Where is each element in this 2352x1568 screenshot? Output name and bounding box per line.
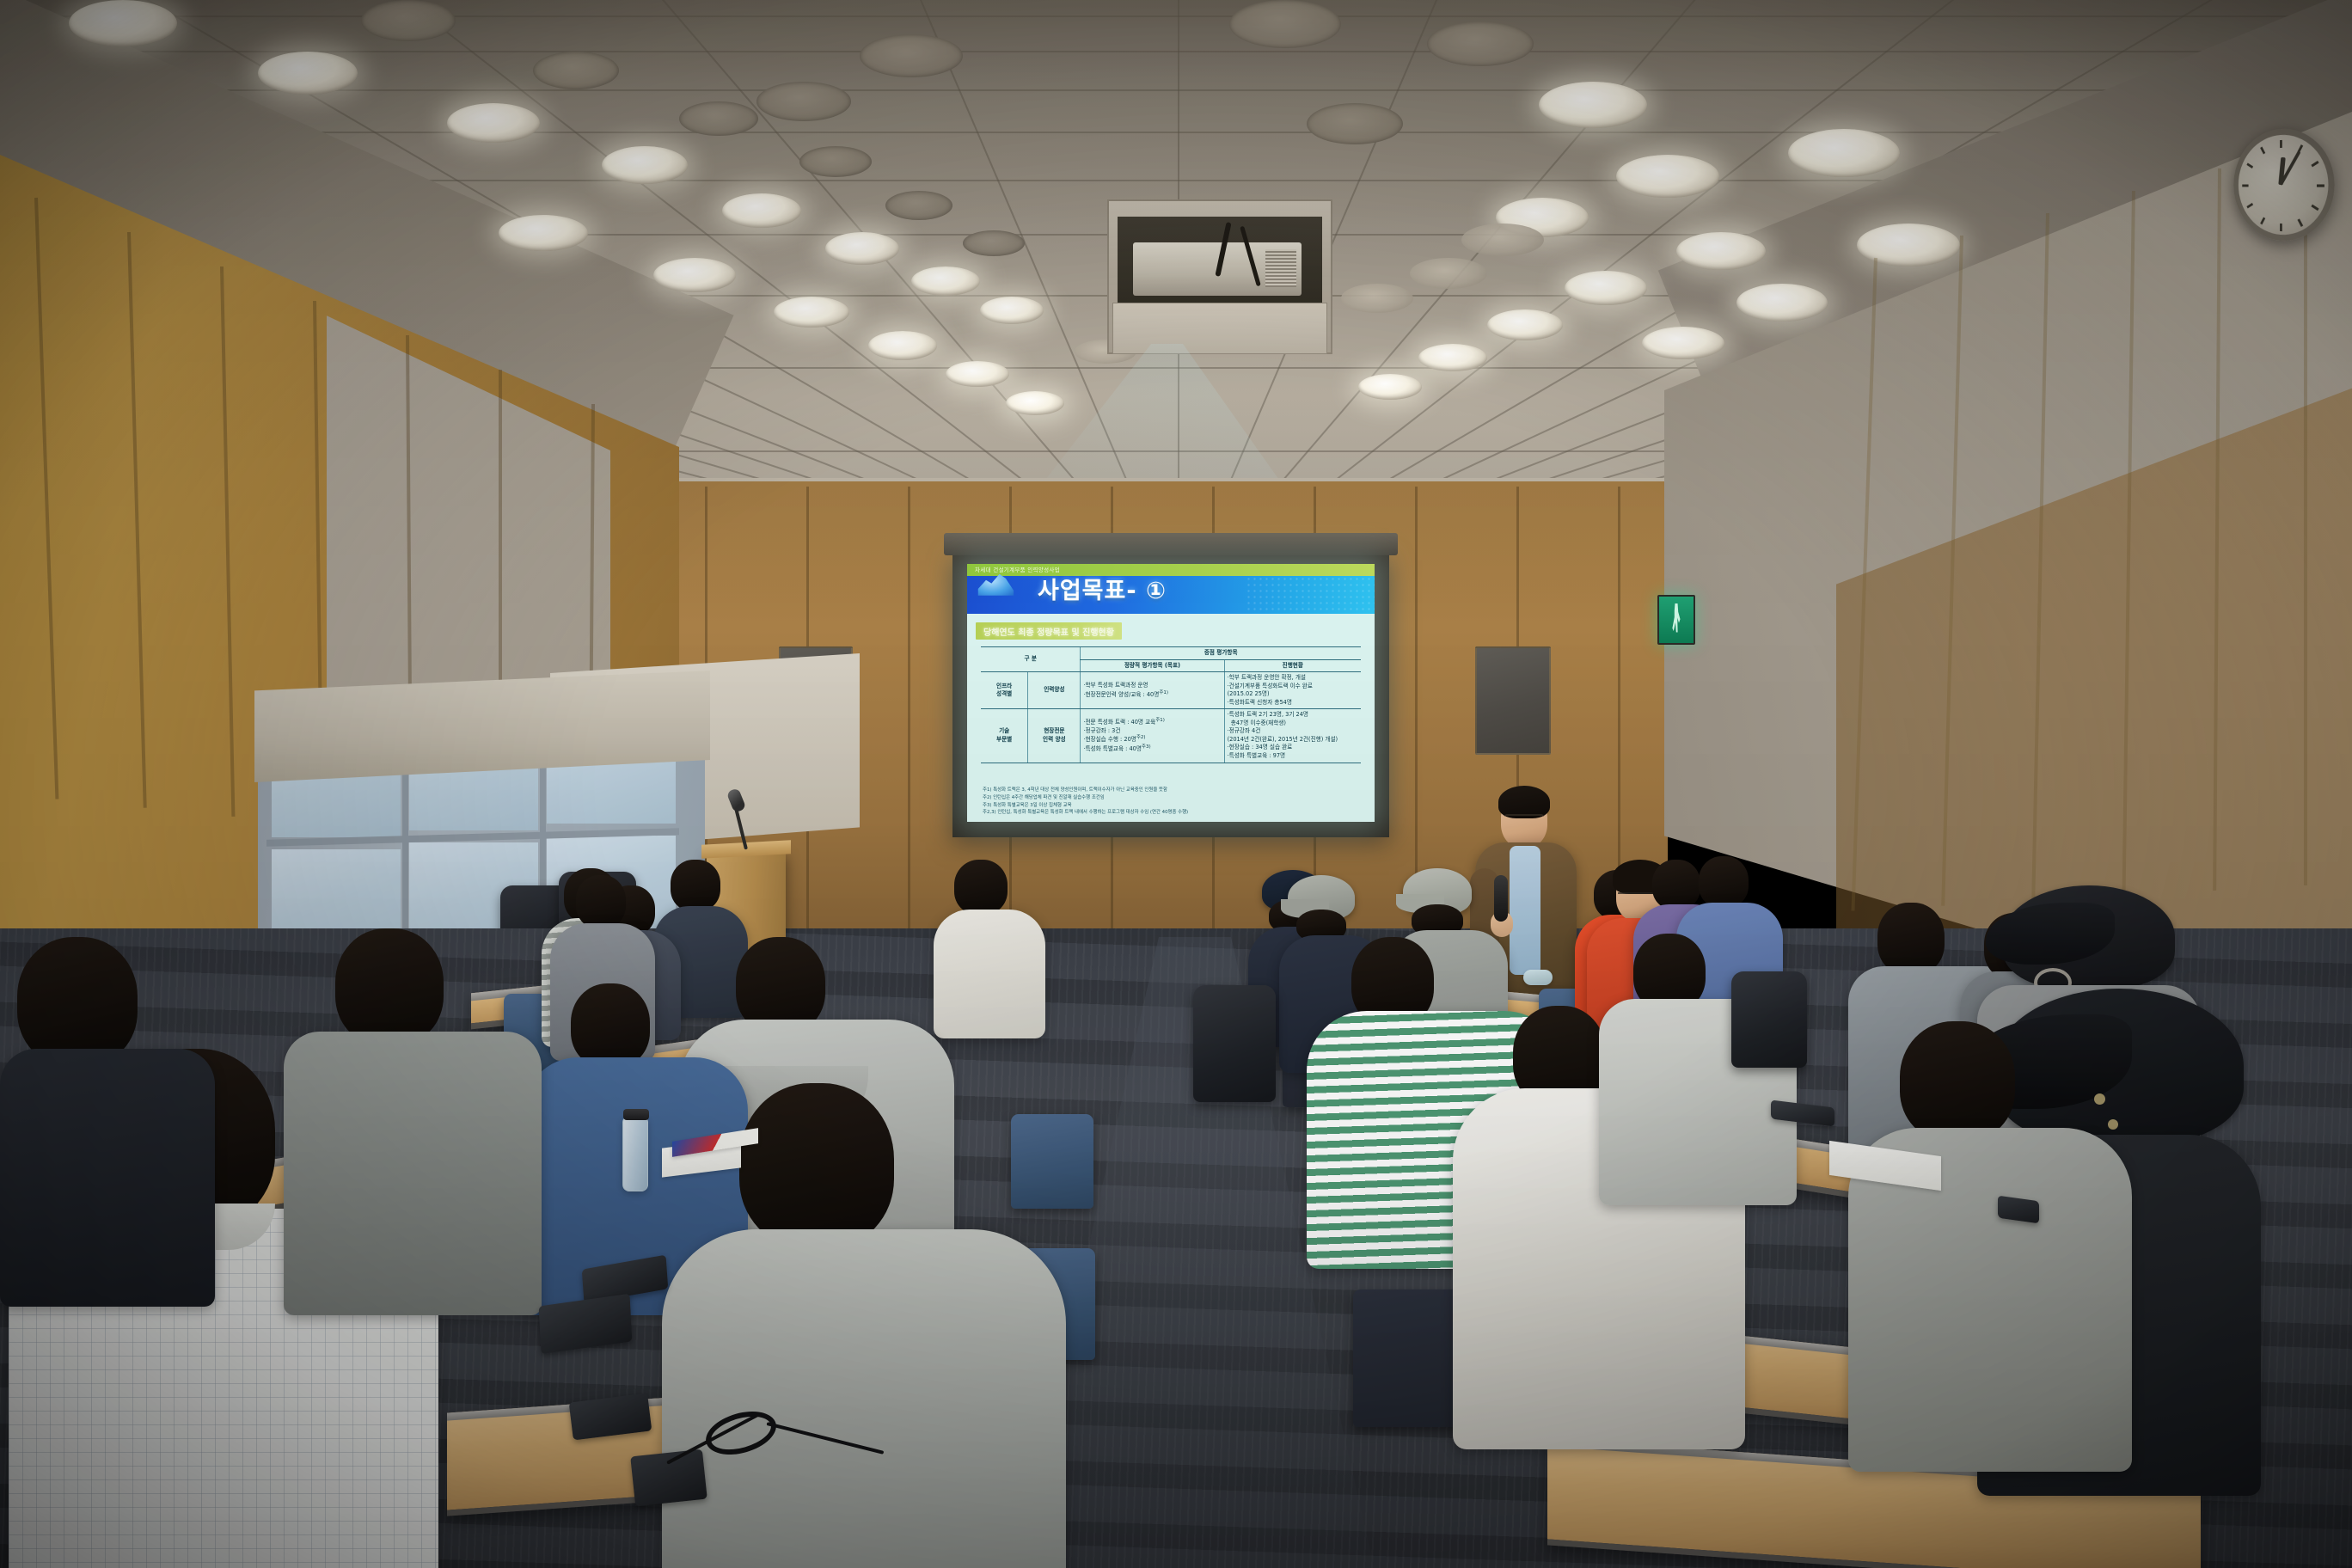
- head: [671, 860, 720, 911]
- gray-hoodie-large-torso: [662, 1229, 1066, 1568]
- recessed-downlight-2: [447, 103, 540, 143]
- recessed-downlight-4: [722, 193, 801, 228]
- recessed-downlight-40: [1341, 284, 1413, 313]
- recessed-downlight-0: [69, 0, 177, 46]
- head: [571, 983, 650, 1068]
- head: [576, 875, 626, 928]
- recessed-downlight-30: [1736, 284, 1828, 322]
- slide-title-band: [967, 576, 1375, 614]
- recessed-downlight-3: [602, 146, 688, 184]
- recessed-downlight-14: [499, 215, 588, 251]
- th-gubun: 구 분: [981, 647, 1081, 672]
- cap-button-2: [2108, 1119, 2118, 1130]
- ceiling-speaker-11: [799, 146, 872, 177]
- head: [1699, 856, 1749, 908]
- recessed-downlight-19: [1006, 391, 1064, 415]
- recessed-downlight-25: [1565, 271, 1647, 305]
- backpack-floor-left: [1193, 985, 1276, 1102]
- recessed-downlight-1: [258, 52, 358, 95]
- chair-left-2: [1011, 1114, 1093, 1209]
- recessed-downlight-24: [1676, 232, 1766, 270]
- wall-seam: [908, 487, 910, 959]
- recessed-downlight-17: [868, 331, 937, 360]
- presenter-glasses-icon: [1504, 814, 1544, 822]
- head: [17, 937, 138, 1066]
- recessed-downlight-29: [1857, 224, 1960, 266]
- recessed-downlight-28: [1358, 374, 1422, 400]
- td-targets-2: ·전문 특성화 트랙 : 40명 교육주1) ·정규강좌 : 3건 ·현장실습 …: [1081, 709, 1224, 763]
- recessed-downlight-16: [774, 297, 849, 328]
- ceiling-speaker-34: [1229, 0, 1341, 48]
- recessed-downlight-5: [825, 232, 899, 265]
- ceiling-speaker-10: [679, 101, 758, 136]
- slide-section-label: 당해연도 최종 정량목표 및 진행현황: [983, 625, 1114, 638]
- mouse-object: [1523, 970, 1553, 985]
- head: [1877, 903, 1945, 975]
- head: [1652, 860, 1700, 910]
- recessed-downlight-18: [946, 361, 1009, 387]
- handheld-microphone-icon: [1494, 875, 1508, 922]
- th-progress: 진행현황: [1224, 659, 1361, 672]
- clock-tick: [2280, 224, 2282, 231]
- dark-torso: [0, 1049, 215, 1307]
- recessed-downlight-42: [1461, 224, 1544, 256]
- slide-table: 구 분 중점 평가항목 정량적 평가항목 (목표) 진행현황 인프라성격별 인력…: [981, 646, 1361, 763]
- recessed-downlight-31: [1642, 327, 1724, 359]
- ceiling-speaker-35: [1427, 21, 1534, 66]
- td-category-2: 기술부문별: [981, 709, 1028, 763]
- clock-tick: [2311, 161, 2318, 168]
- td-progress-1: ·학부 트랙과정 운영안 확정, 개설 ·건설기계부품 특성화트랙 이수 완료 …: [1224, 672, 1361, 709]
- lecture-hall-photo: 차세대 건설기계부품 인력양성사업 사업목표- ① 당해연도 최종 정량목표 및…: [0, 0, 2352, 1568]
- ceiling-speaker-13: [963, 230, 1025, 256]
- clock-tick: [2297, 218, 2303, 227]
- recessed-downlight-26: [1487, 309, 1563, 340]
- presenter-shirt: [1510, 846, 1540, 975]
- projector-vent: [1265, 249, 1296, 287]
- ceiling-speaker-44: [860, 34, 963, 77]
- glasses-icon: [1618, 892, 1654, 899]
- td-targets-1: ·학부 특성화 트랙과정 운영 ·현장전문인력 양성/교육 : 40명주1): [1081, 672, 1224, 709]
- clock-tick: [2260, 217, 2265, 224]
- recessed-downlight-23: [1788, 129, 1900, 177]
- td-category-1: 인프라성격별: [981, 672, 1028, 709]
- remote-control: [630, 1449, 707, 1506]
- clock-tick: [2260, 147, 2265, 155]
- slide-title: 사업목표- ①: [1038, 572, 1167, 605]
- projector-access-panel: [1112, 303, 1327, 354]
- recessed-downlight-27: [1418, 344, 1487, 371]
- water-bottle: [622, 1118, 648, 1191]
- recessed-downlight-6: [911, 266, 980, 296]
- ceiling-speaker-12: [885, 191, 952, 220]
- slide-section-chip: 당해연도 최종 정량목표 및 진행현황: [976, 622, 1122, 640]
- footnote-2: 주2) 인턴십은 4주간 해당업체 파견 및 진알재 실습수행 조건임: [983, 794, 1361, 802]
- clock-tick: [2246, 162, 2253, 168]
- recessed-downlight-22: [1539, 82, 1647, 128]
- gray-torso: [284, 1032, 542, 1315]
- cap-button: [2094, 1093, 2105, 1105]
- table-row: 인프라성격별 인력양성 ·학부 특성화 트랙과정 운영 ·현장전문인력 양성/교…: [981, 672, 1361, 709]
- ceiling-speaker-36: [1307, 103, 1403, 144]
- chair-right-3: [1353, 1289, 1463, 1427]
- th-eval-group: 중점 평가항목: [1081, 647, 1361, 660]
- recessed-downlight-20: [1616, 155, 1719, 198]
- table-row: 기술부문별 현장전문인력 양성 ·전문 특성화 트랙 : 40명 교육주1) ·…: [981, 709, 1361, 763]
- presentation-slide: 차세대 건설기계부품 인력양성사업 사업목표- ① 당해연도 최종 정량목표 및…: [967, 564, 1375, 822]
- ceiling-speaker-9: [533, 52, 619, 89]
- white-torso: [934, 910, 1045, 1038]
- slide-header-banner: 차세대 건설기계부품 인력양성사업: [967, 564, 1375, 576]
- recessed-downlight-15: [653, 258, 736, 292]
- footnote-4: 주2,3) 인턴십, 특성화 특별교육은 특성화 트랙 내에서 수행하는 프로그…: [983, 809, 1361, 817]
- th-target: 정량적 평가항목 (목표): [1081, 659, 1224, 672]
- footnote-3: 주3) 특성화 특별교육은 3일 이상 집체형 교육: [983, 802, 1361, 810]
- ceiling-speaker-43: [756, 82, 851, 121]
- running-man-icon: [1672, 603, 1681, 633]
- td-subcategory-1: 인력양성: [1028, 672, 1081, 709]
- footnote-1: 주1) 특성화 트랙은 3, 4학년 대상 전체 양성인원이며, 트랙이수자가 …: [983, 787, 1361, 794]
- head: [335, 928, 444, 1045]
- head: [739, 1083, 894, 1248]
- recessed-downlight-41: [1410, 258, 1487, 289]
- backpack-floor-right: [1731, 971, 1807, 1068]
- table-header-row-1: 구 분 중점 평가항목: [981, 647, 1361, 660]
- head: [1900, 1021, 2015, 1142]
- acoustic-panel-right: [1475, 646, 1551, 755]
- head: [954, 860, 1008, 915]
- projection-screen-roller: [944, 533, 1398, 555]
- slide-footnotes: 주1) 특성화 트랙은 3, 4학년 대상 전체 양성인원이며, 트랙이수자가 …: [983, 787, 1361, 817]
- slide-halftone-dots: [1246, 576, 1375, 614]
- exit-sign: [1657, 595, 1695, 645]
- bottle-cap: [623, 1109, 649, 1120]
- clock-tick: [2280, 140, 2282, 148]
- td-progress-2: ·특성화 트랙 2기 23명, 3기 24명 총47명 이수중(재학생) ·정규…: [1224, 709, 1361, 763]
- clock-tick: [2316, 184, 2324, 187]
- clock-tick: [2246, 203, 2253, 209]
- ceiling-speaker-8: [361, 0, 456, 41]
- td-subcategory-2: 현장전문인력 양성: [1028, 709, 1081, 763]
- clock-tick: [2311, 205, 2318, 211]
- wall-seam-right: [2304, 146, 2307, 885]
- clock-tick: [2242, 185, 2248, 187]
- recessed-downlight-7: [980, 297, 1044, 324]
